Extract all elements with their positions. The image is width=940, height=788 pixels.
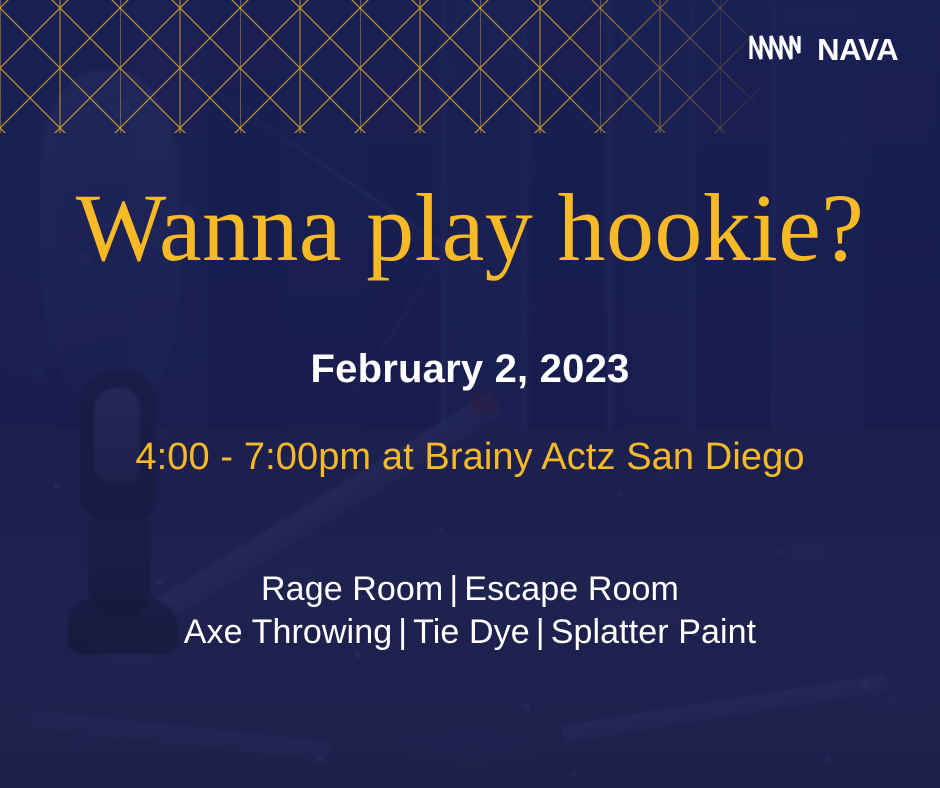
flyer-headline: Wanna play hookie? [0,178,940,279]
activity-tie-dye: Tie Dye [413,613,530,651]
activity-axe-throwing: Axe Throwing [184,613,392,651]
activity-splatter-paint: Splatter Paint [551,613,757,651]
activity-rage-room: Rage Room [261,570,443,608]
activities-line-2: Axe Throwing|Tie Dye|Splatter Paint [0,611,940,654]
activities-line-1: Rage Room|Escape Room [0,568,940,611]
event-time-and-location: 4:00 - 7:00pm at Brainy Actz San Diego [0,436,940,479]
activity-escape-room: Escape Room [464,570,679,608]
event-date: February 2, 2023 [0,347,940,392]
activity-separator: | [443,568,464,611]
activity-separator: | [530,611,551,654]
flyer-content: Wanna play hookie? February 2, 2023 4:00… [0,0,940,788]
event-flyer: NAVA Wanna play hookie? February 2, 2023… [0,0,940,788]
activities-list: Rage Room|Escape Room Axe Throwing|Tie D… [0,568,940,654]
activity-separator: | [392,611,413,654]
